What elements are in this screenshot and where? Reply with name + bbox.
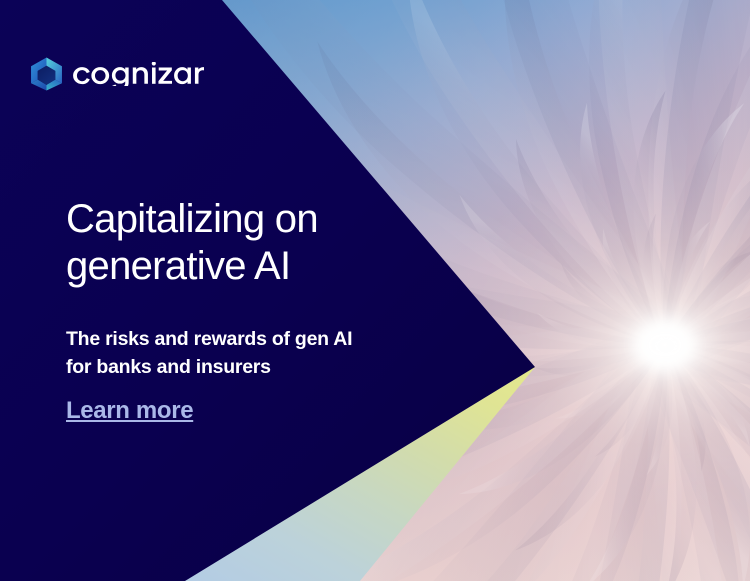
ad-headline: Capitalizing on generative AI	[66, 196, 396, 290]
subhead-line-1: The risks and rewards of gen AI	[66, 328, 352, 350]
ad-banner[interactable]: Capitalizing on generative AI The risks …	[0, 0, 750, 581]
learn-more-cta[interactable]: Learn more	[66, 397, 193, 426]
ad-content: Capitalizing on generative AI The risks …	[0, 0, 750, 581]
cognizant-wordmark	[72, 62, 204, 86]
cognizant-logo[interactable]	[30, 57, 204, 91]
subhead-line-2: for banks and insurers	[66, 356, 271, 378]
headline-line-1: Capitalizing on	[66, 197, 318, 241]
cognizant-cube-logo-icon	[30, 57, 63, 91]
headline-line-2: generative AI	[66, 244, 290, 288]
ad-subheadline: The risks and rewards of gen AI for bank…	[66, 326, 406, 381]
